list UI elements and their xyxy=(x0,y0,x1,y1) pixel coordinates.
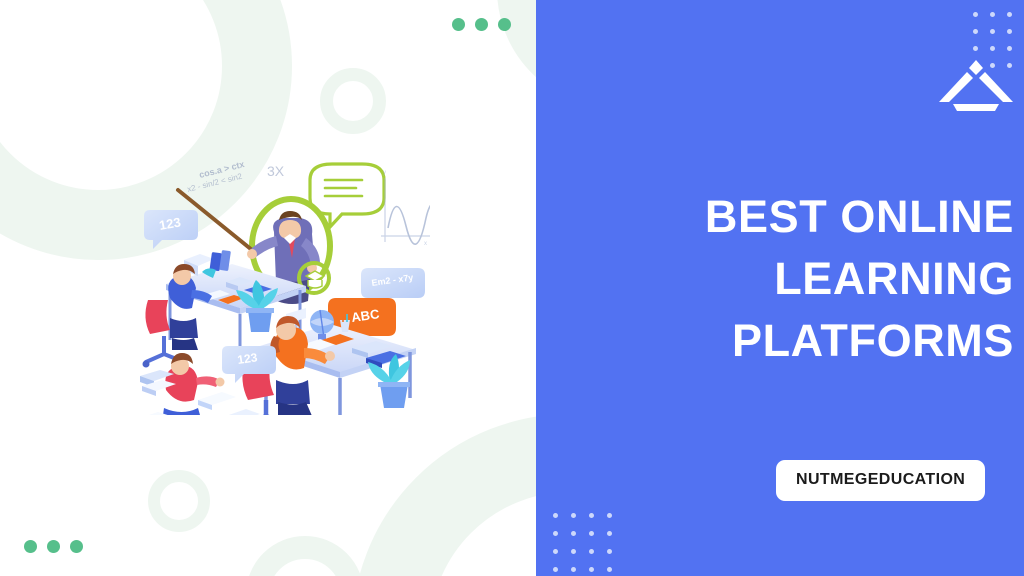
right-blue-panel: BEST ONLINE LEARNING PLATFORMS NUTMEGEDU… xyxy=(536,0,1024,576)
sine-graph: y x xyxy=(381,170,430,247)
bubble-123-left: 123 xyxy=(144,210,198,249)
mint-ring-bottom xyxy=(246,536,364,576)
grid-dot xyxy=(607,531,612,536)
banner-root: cos.a > ctx x2 - sin/2 < sin2 3X xyxy=(0,0,1024,576)
svg-text:x: x xyxy=(424,241,427,247)
brand-logo[interactable] xyxy=(937,58,1015,112)
grid-dot xyxy=(1007,12,1012,17)
green-dot xyxy=(70,540,83,553)
mountain-triangle-icon xyxy=(937,58,1015,112)
headline-line-1: BEST ONLINE xyxy=(574,186,1014,248)
grid-dot xyxy=(571,513,576,518)
grid-dot xyxy=(571,549,576,554)
mint-ring-topright-edge xyxy=(497,0,536,108)
grid-dot xyxy=(589,531,594,536)
headline: BEST ONLINE LEARNING PLATFORMS xyxy=(574,186,1014,372)
left-white-panel: cos.a > ctx x2 - sin/2 < sin2 3X xyxy=(0,0,536,576)
grid-dot xyxy=(607,549,612,554)
math-formula-top: cos.a > ctx x2 - sin/2 < sin2 3X xyxy=(186,159,284,194)
svg-text:3X: 3X xyxy=(267,163,285,179)
grid-dot xyxy=(973,29,978,34)
green-dot xyxy=(47,540,60,553)
grid-dot xyxy=(990,46,995,51)
headline-line-3: PLATFORMS xyxy=(574,310,1014,372)
headline-line-2: LEARNING xyxy=(574,248,1014,310)
online-learning-illustration: cos.a > ctx x2 - sin/2 < sin2 3X xyxy=(140,150,430,415)
green-dot xyxy=(24,540,37,553)
bubble-formula: Em2 - x7y xyxy=(361,268,425,298)
grid-dot xyxy=(553,567,558,572)
grid-dot xyxy=(1007,29,1012,34)
brand-badge[interactable]: NUTMEGEDUCATION xyxy=(776,460,985,501)
grid-dot xyxy=(553,549,558,554)
dot-grid-bottom-left xyxy=(553,513,612,572)
grid-dot xyxy=(607,567,612,572)
grid-dot xyxy=(571,531,576,536)
mint-ring-left-lower xyxy=(148,470,210,532)
green-dot xyxy=(498,18,511,31)
grid-dot xyxy=(571,567,576,572)
grid-dot xyxy=(990,29,995,34)
grid-dot xyxy=(553,513,558,518)
mint-ring-top xyxy=(320,68,386,134)
green-dot xyxy=(475,18,488,31)
grid-dot xyxy=(973,46,978,51)
grid-dot xyxy=(589,549,594,554)
grid-dot xyxy=(589,513,594,518)
grid-dot xyxy=(607,513,612,518)
grid-dot xyxy=(973,12,978,17)
grid-dot xyxy=(553,531,558,536)
grid-dot xyxy=(990,12,995,17)
green-dots-top xyxy=(452,18,511,31)
green-dots-bottom xyxy=(24,540,83,553)
grid-dot xyxy=(589,567,594,572)
grid-dot xyxy=(1007,46,1012,51)
svg-text:123: 123 xyxy=(236,350,258,367)
mint-ring-bottom-right xyxy=(352,414,536,576)
svg-text:y: y xyxy=(383,170,386,176)
green-dot xyxy=(452,18,465,31)
